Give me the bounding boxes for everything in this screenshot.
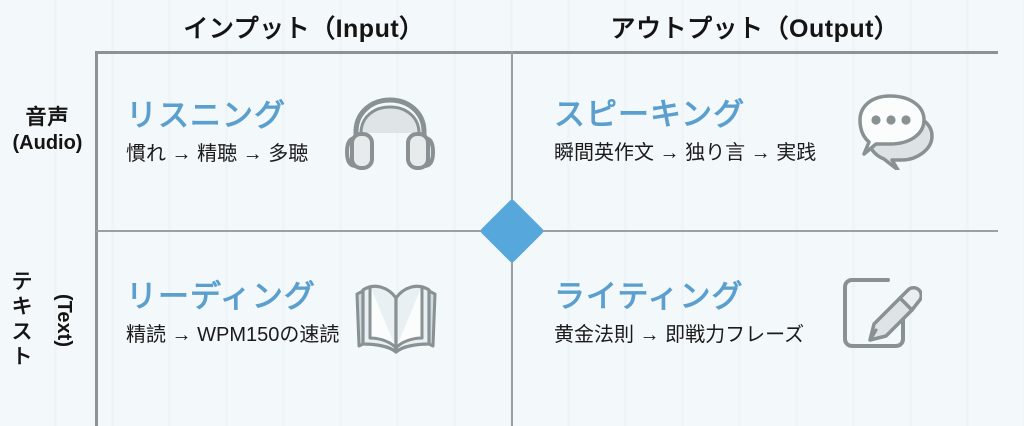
cell-writing-title: ライティング bbox=[554, 277, 804, 317]
row-label-audio-en: (Audio) bbox=[0, 131, 95, 156]
row-label-text: テキスト (Text) bbox=[0, 250, 95, 390]
row-label-text-en: (Text) bbox=[52, 294, 75, 347]
row-label-audio: 音声 (Audio) bbox=[0, 105, 95, 156]
speech-bubbles-icon bbox=[858, 92, 946, 170]
cell-reading: リーディング 精読 → WPM150の速読 bbox=[126, 272, 496, 354]
cell-reading-text: リーディング 精読 → WPM150の速読 bbox=[126, 277, 339, 350]
cell-listening-title: リスニング bbox=[126, 96, 308, 136]
center-diamond-marker bbox=[479, 198, 544, 263]
cell-writing-subtitle: 黄金法則 → 即戦力フレーズ bbox=[554, 320, 804, 350]
headphones-icon bbox=[344, 92, 436, 172]
row-label-audio-ja: 音声 bbox=[0, 105, 95, 131]
horizontal-axis-line bbox=[96, 51, 998, 54]
row-divider-line bbox=[96, 230, 998, 232]
cell-speaking: スピーキング 瞬間英作文 → 独り言 → 実践 bbox=[554, 92, 984, 170]
cell-listening-subtitle: 慣れ → 精聴 → 多聴 bbox=[126, 139, 308, 169]
cell-listening-text: リスニング 慣れ → 精聴 → 多聴 bbox=[126, 96, 308, 169]
cell-writing-text: ライティング 黄金法則 → 即戦力フレーズ bbox=[554, 277, 804, 350]
cell-speaking-text: スピーキング 瞬間英作文 → 独り言 → 実践 bbox=[554, 95, 816, 168]
open-book-icon bbox=[353, 272, 439, 354]
pencil-note-icon bbox=[838, 272, 922, 354]
cell-speaking-title: スピーキング bbox=[554, 95, 816, 135]
column-header-input: インプット（Input） bbox=[96, 10, 512, 48]
diagram-canvas: インプット（Input） アウトプット（Output） 音声 (Audio) テ… bbox=[0, 0, 1024, 426]
cell-speaking-subtitle: 瞬間英作文 → 独り言 → 実践 bbox=[554, 138, 816, 168]
vertical-axis-line bbox=[95, 51, 98, 426]
cell-listening: リスニング 慣れ → 精聴 → 多聴 bbox=[126, 92, 496, 172]
cell-reading-subtitle: 精読 → WPM150の速読 bbox=[126, 320, 339, 350]
cell-writing: ライティング 黄金法則 → 即戦力フレーズ bbox=[554, 272, 984, 354]
cell-reading-title: リーディング bbox=[126, 277, 339, 317]
column-header-output: アウトプット（Output） bbox=[512, 10, 998, 48]
row-label-text-ja: テキスト bbox=[5, 270, 35, 370]
